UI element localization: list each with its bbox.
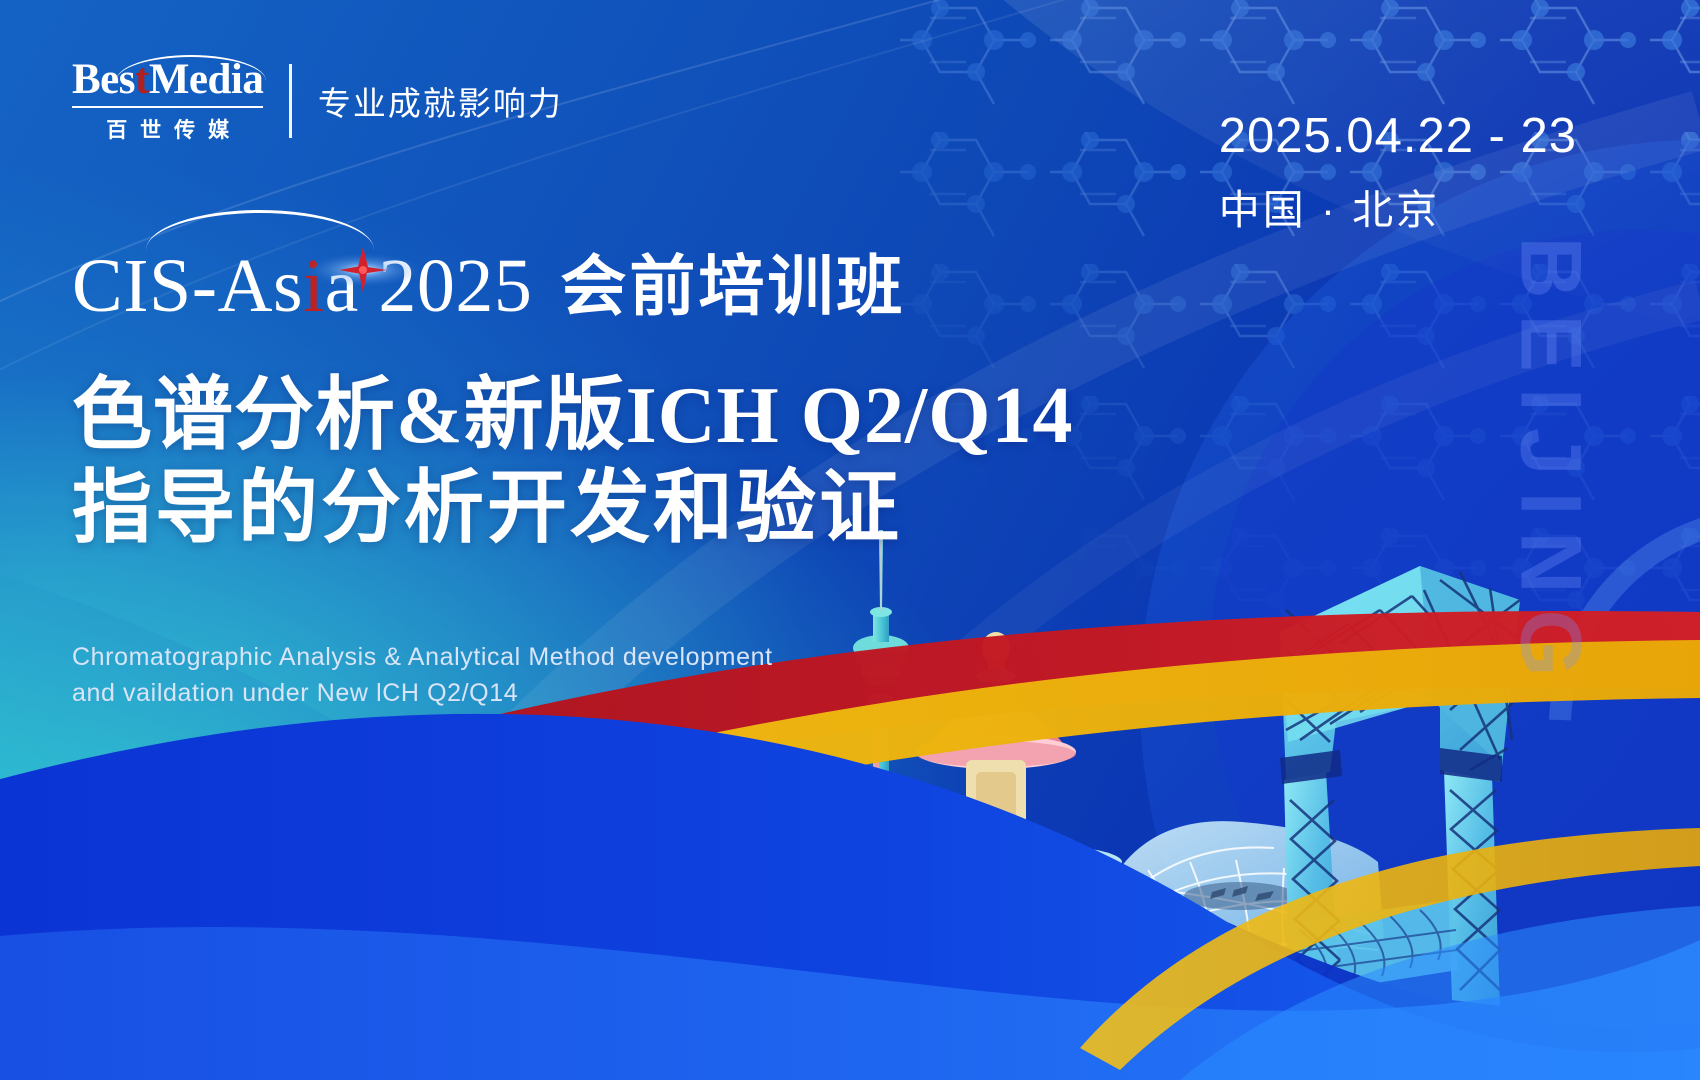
event-name-i-red: i <box>303 244 325 328</box>
city-watermark: BEIJING <box>1500 236 1599 692</box>
page-subtitle: Chromatographic Analysis & Analytical Me… <box>72 640 773 711</box>
page-title: 色谱分析&新版ICH Q2/Q14 指导的分析开发和验证 <box>72 370 1073 556</box>
brand-tagline: 专业成就影响力 <box>318 77 563 125</box>
event-name-line: CIS-Asia 2025 会前培训班 <box>72 248 905 324</box>
vertical-divider-icon <box>289 64 292 138</box>
event-chinese-label: 会前培训班 <box>560 255 905 324</box>
subtitle-line-2: and vaildation under New lCH Q2/Q14 <box>72 676 773 712</box>
event-name-post: a <box>325 244 359 328</box>
event-name-latin: CIS-Asia 2025 <box>72 248 532 324</box>
title-line-2: 指导的分析开发和验证 <box>72 463 1073 556</box>
logo-wordmark-t-red: t <box>135 56 149 103</box>
event-location: 中国 · 北京 <box>1219 176 1577 236</box>
conference-banner: BEIJING BestMedia 百世传媒 专业成就影响力 2025.04.2… <box>0 0 1700 1080</box>
brand-logo[interactable]: BestMedia 百世传媒 专业成就影响力 <box>72 58 563 144</box>
title-line-1: 色谱分析&新版ICH Q2/Q14 <box>72 370 1073 463</box>
event-date: 2025.04.22 - 23 <box>1219 108 1577 164</box>
logo-chinese-name: 百世传媒 <box>72 114 263 144</box>
logo-wordmark-post: Media <box>149 56 264 103</box>
event-meta: 2025.04.22 - 23 中国 · 北京 <box>1219 108 1577 236</box>
logo-wordmark: BestMedia <box>72 58 263 108</box>
logo-lockup: BestMedia 百世传媒 <box>72 58 263 144</box>
event-name-pre: CIS-As <box>72 244 303 328</box>
subtitle-line-1: Chromatographic Analysis & Analytical Me… <box>72 640 773 676</box>
event-year: 2025 <box>378 244 532 328</box>
logo-wordmark-pre: Bes <box>72 56 135 103</box>
